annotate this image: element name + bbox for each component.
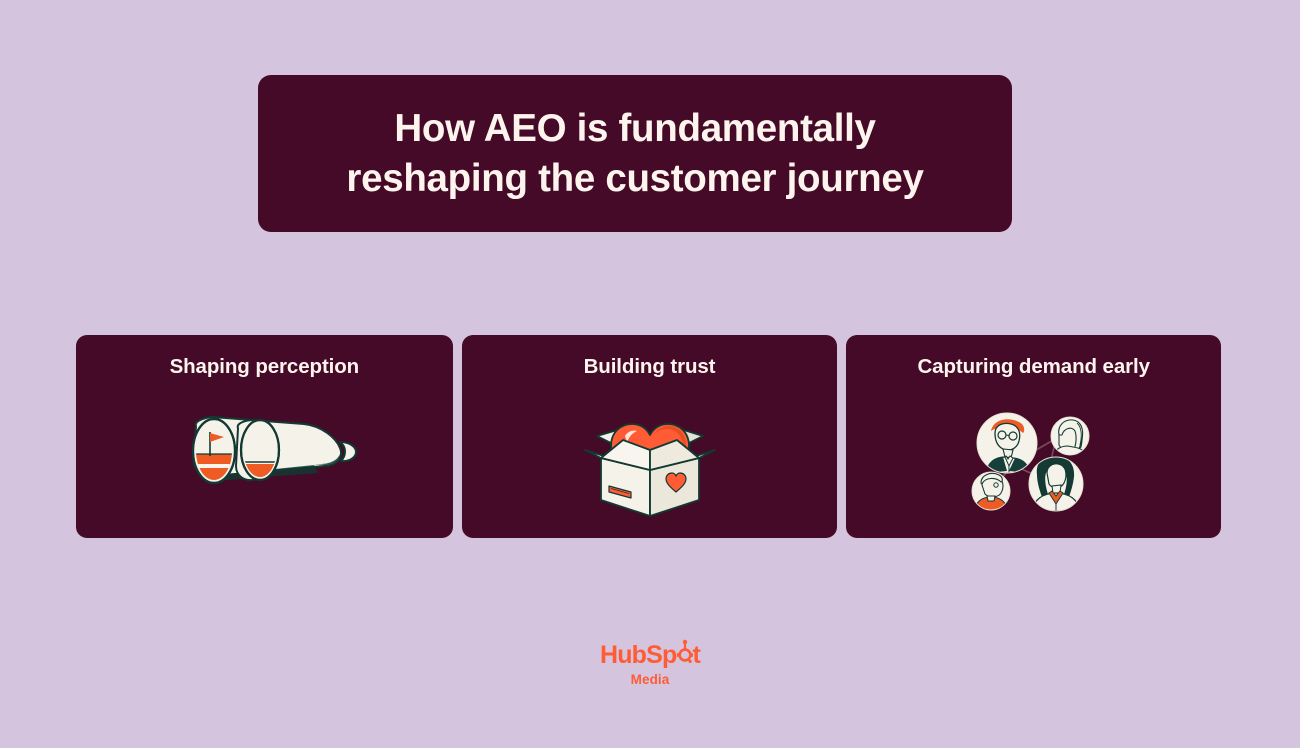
binoculars-icon (76, 379, 453, 538)
sprocket-icon (677, 638, 693, 663)
card-title: Shaping perception (170, 355, 360, 379)
hubspot-logo: HubSp t (600, 638, 700, 668)
heart-in-box-icon (462, 379, 838, 538)
cards-row: Shaping perception (76, 335, 1221, 538)
footer-logo: HubSp t Media (0, 638, 1300, 687)
connected-avatars-icon (846, 379, 1221, 538)
card-title: Building trust (584, 355, 716, 379)
card-capturing-demand-early[interactable]: Capturing demand early (846, 335, 1221, 538)
title-banner: How AEO is fundamentally reshaping the c… (258, 75, 1012, 232)
logo-text-part1: HubSp (600, 643, 677, 668)
card-title: Capturing demand early (917, 355, 1149, 379)
card-building-trust[interactable]: Building trust (462, 335, 838, 538)
page-title: How AEO is fundamentally reshaping the c… (346, 104, 923, 203)
logo-text-part2: t (693, 643, 701, 668)
logo-sub-brand: Media (631, 672, 670, 687)
card-shaping-perception[interactable]: Shaping perception (76, 335, 453, 538)
